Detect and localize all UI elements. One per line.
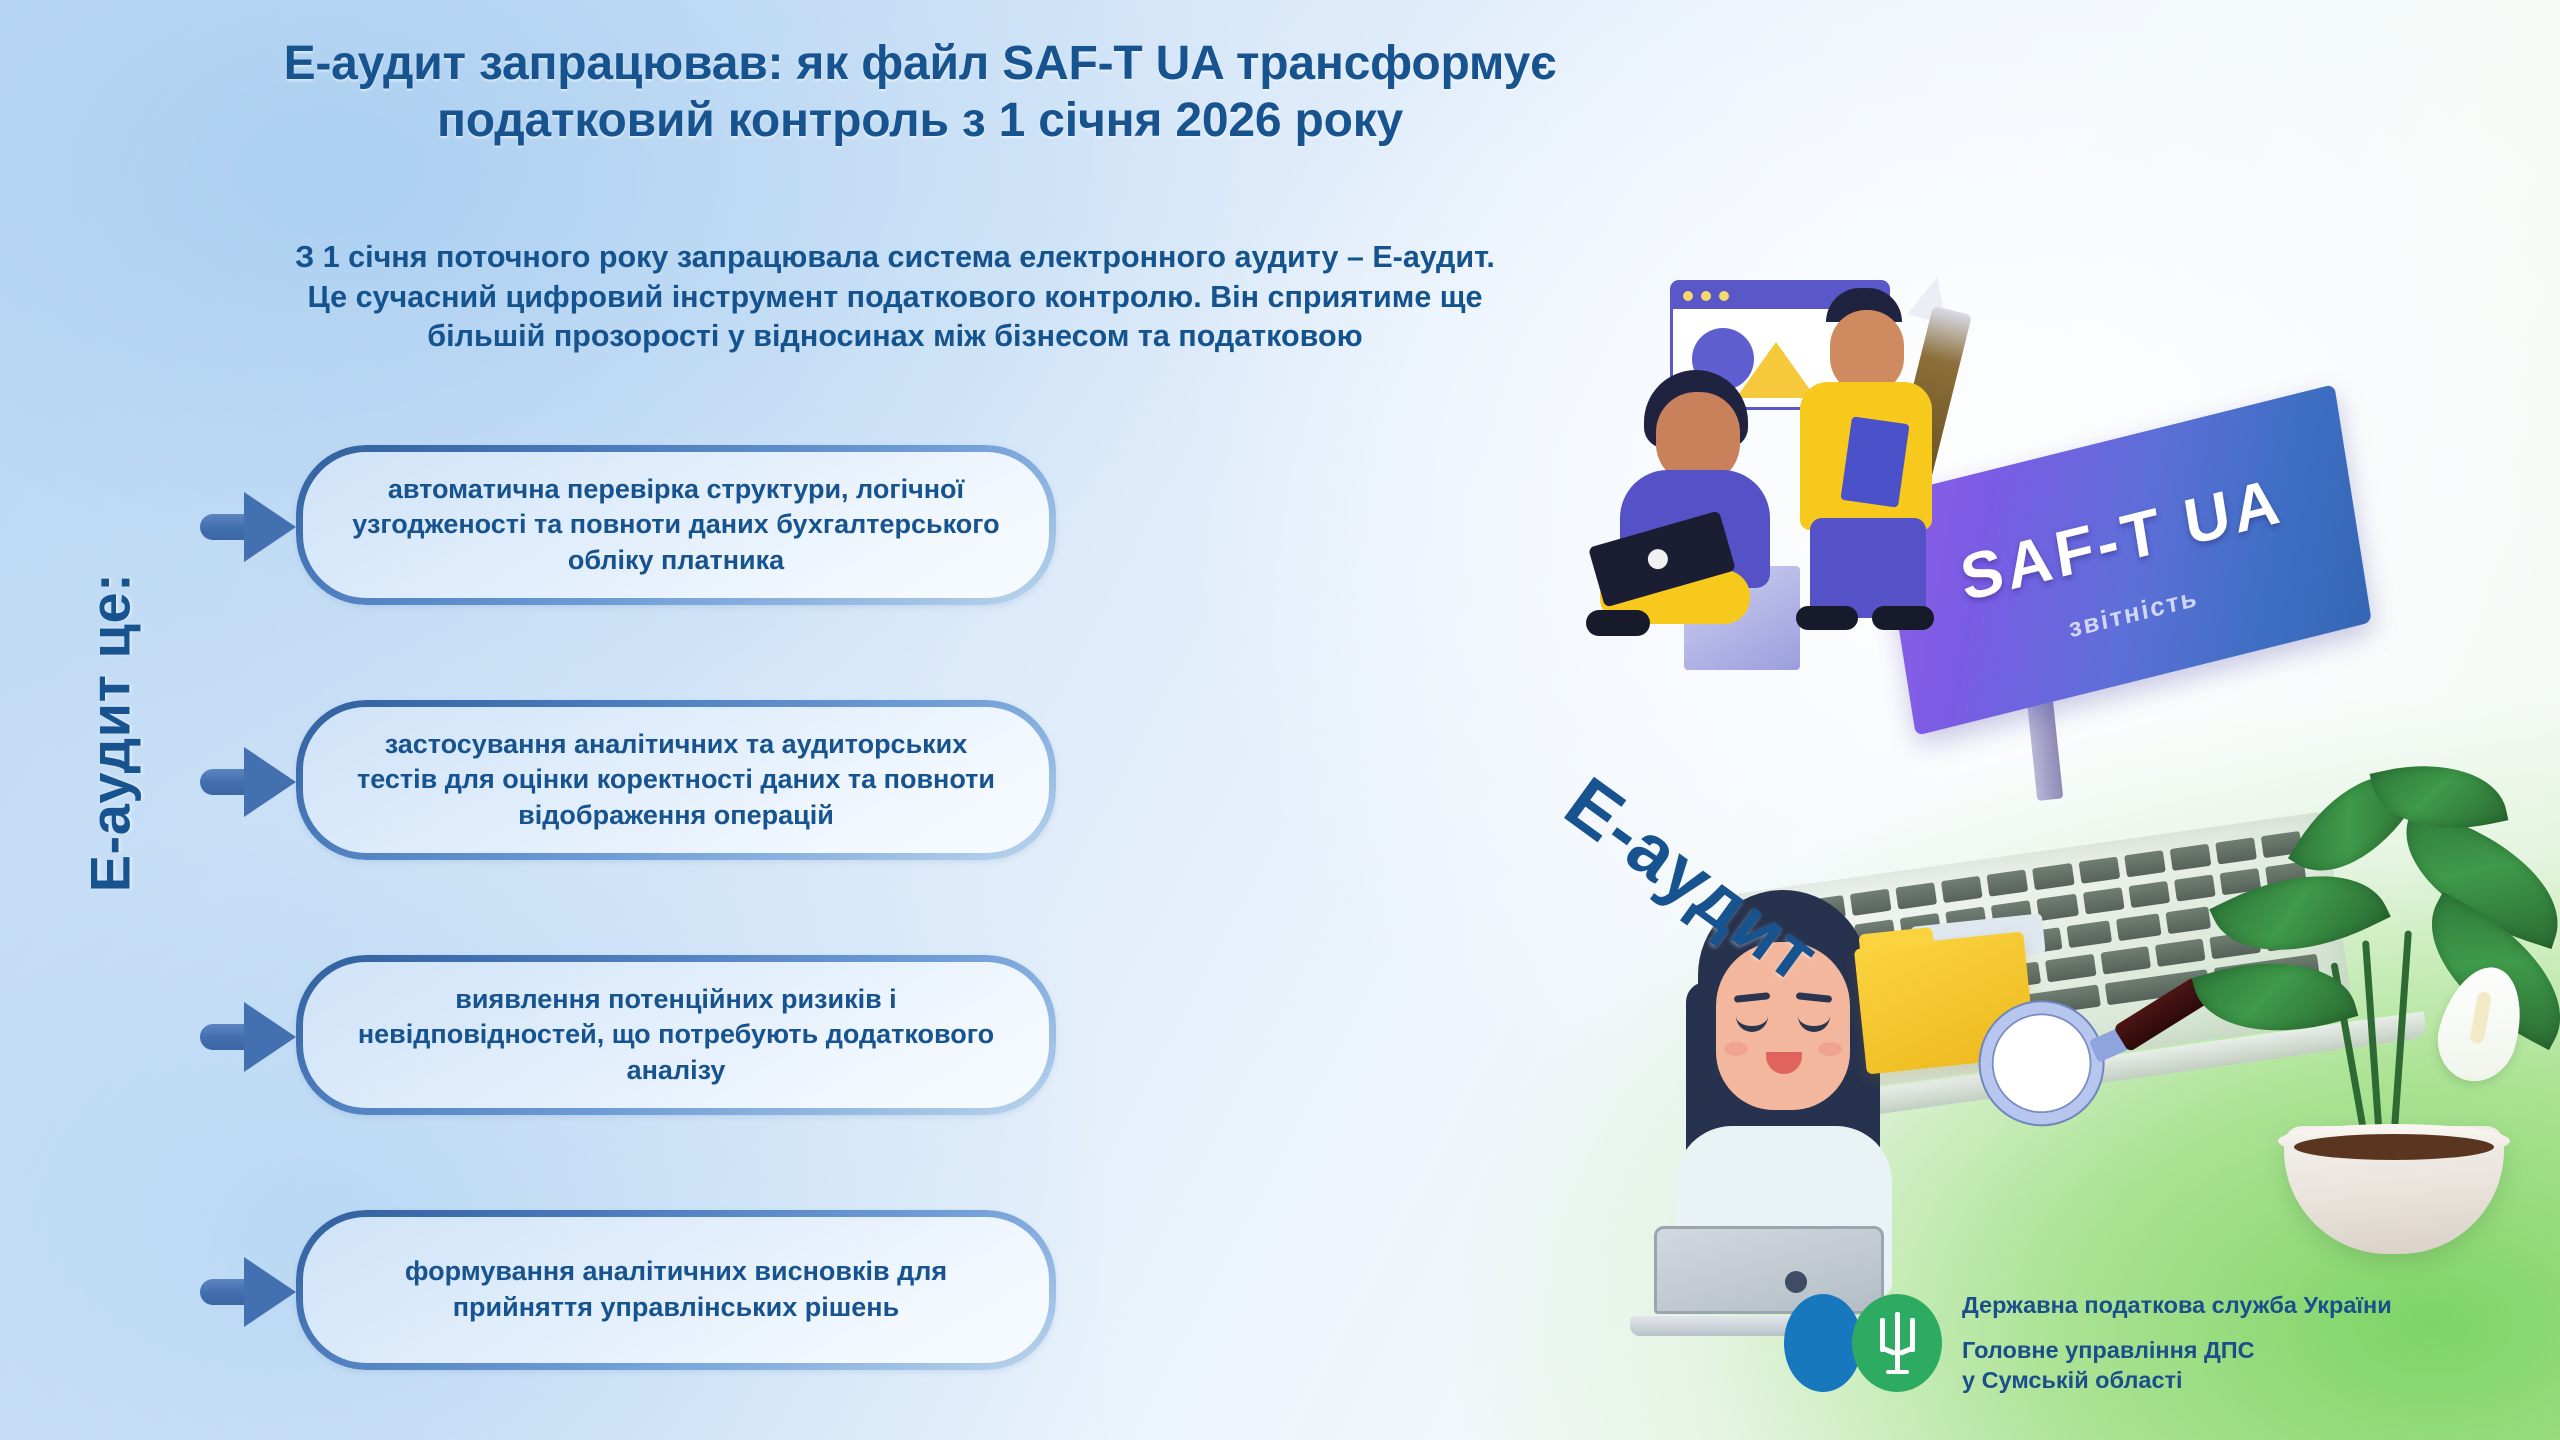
logo-blue-circle — [1784, 1294, 1862, 1392]
flower-pot — [2284, 1126, 2504, 1254]
card-line: тестів для оцінки коректності даних та п… — [357, 762, 995, 798]
org-name: Державна податкова служба України — [1962, 1292, 2392, 1319]
card-line: застосування аналітичних та аудиторських — [357, 727, 995, 763]
card-item[interactable]: автоматична перевірка структури, логічно… — [296, 445, 1056, 605]
card-row-2: застосування аналітичних та аудиторських… — [200, 700, 1056, 860]
arrow-right-icon — [200, 1255, 296, 1325]
card-item[interactable]: застосування аналітичних та аудиторських… — [296, 700, 1056, 860]
plant-illustration — [2180, 760, 2560, 1280]
arrow-right-icon — [200, 745, 296, 815]
card-line: автоматична перевірка структури, логічно… — [352, 472, 999, 508]
card-text: формування аналітичних висновків для при… — [405, 1254, 947, 1325]
card-list: автоматична перевірка структури, логічно… — [0, 0, 1600, 1440]
person-with-laptop — [1600, 370, 1780, 620]
footer-text: Державна податкова служба України Головн… — [1962, 1288, 2392, 1395]
dps-logo — [1780, 1288, 1962, 1398]
footer-branding: Державна податкова служба України Головн… — [1780, 1288, 2520, 1418]
card-line: виявлення потенційних ризиків і — [358, 982, 994, 1018]
card-text: виявлення потенційних ризиків і невідпов… — [358, 982, 994, 1089]
card-line: формування аналітичних висновків для — [405, 1254, 947, 1290]
card-text: застосування аналітичних та аудиторських… — [357, 727, 995, 834]
org-unit-line-1: Головне управління ДПС — [1962, 1335, 2392, 1365]
trident-icon — [1876, 1312, 1918, 1374]
card-row-4: формування аналітичних висновків для при… — [200, 1210, 1056, 1370]
infographic-canvas: Е-аудит запрацював: як файл SAF-T UA тра… — [0, 0, 2560, 1440]
people-working-illustration — [1560, 250, 2000, 630]
card-line: узгодженості та повноти даних бухгалтерс… — [352, 507, 999, 543]
org-unit-line-2: у Сумській області — [1962, 1365, 2392, 1395]
card-line: обліку платника — [352, 543, 999, 579]
card-line: прийняття управлінських рішень — [405, 1290, 947, 1326]
person-with-pen — [1776, 288, 1976, 628]
card-line: аналізу — [358, 1053, 994, 1089]
card-line: відображення операцій — [357, 798, 995, 834]
card-item[interactable]: виявлення потенційних ризиків і невідпов… — [296, 955, 1056, 1115]
card-row-1: автоматична перевірка структури, логічно… — [200, 445, 1056, 605]
arrow-right-icon — [200, 1000, 296, 1070]
card-item[interactable]: формування аналітичних висновків для при… — [296, 1210, 1056, 1370]
card-text: автоматична перевірка структури, логічно… — [352, 472, 999, 579]
arrow-right-icon — [200, 490, 296, 560]
card-line: невідповідностей, що потребують додатков… — [358, 1017, 994, 1053]
card-row-3: виявлення потенційних ризиків і невідпов… — [200, 955, 1056, 1115]
